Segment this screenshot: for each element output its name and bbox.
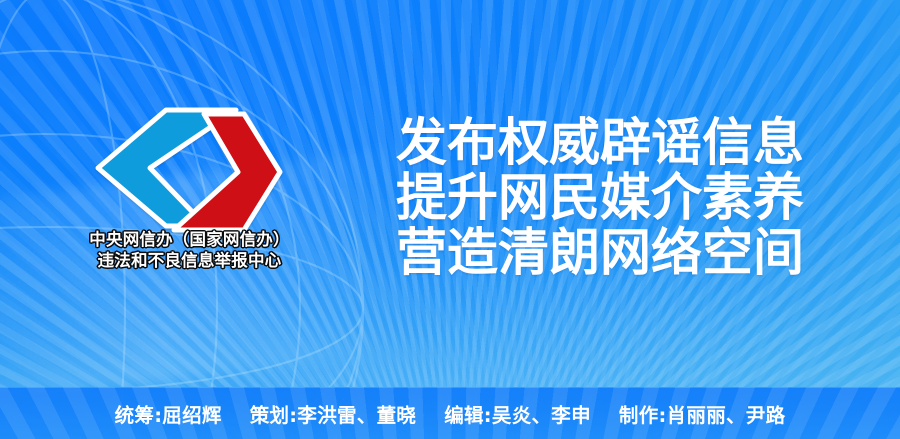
credits-text: 统筹:屈绍辉 策划:李洪雷、董晓 编辑:吴炎、李申 制作:肖丽丽、尹路 [0, 387, 900, 439]
slogan-line-3: 营造清朗网络空间 [396, 226, 826, 281]
slogan-line-2: 提升网民媒介素养 [396, 171, 826, 226]
organization-name-line2: 违法和不良信息举报中心 [82, 251, 297, 271]
promotional-banner: 中央网信办（国家网信办） 违法和不良信息举报中心 发布权威辟谣信息 提升网民媒介… [0, 0, 900, 439]
credit-editor: 编辑:吴炎、李申 [444, 399, 591, 428]
logo-block: 中央网信办（国家网信办） 违法和不良信息举报中心 [88, 106, 288, 286]
organization-name: 中央网信办（国家网信办） 违法和不良信息举报中心 [82, 230, 297, 271]
credit-producer: 统筹:屈绍辉 [115, 399, 222, 428]
credit-planner: 策划:李洪雷、董晓 [250, 399, 417, 428]
slogan-block: 发布权威辟谣信息 提升网民媒介素养 营造清朗网络空间 [396, 116, 826, 281]
slogan-line-1: 发布权威辟谣信息 [396, 116, 826, 171]
chevron-logo-icon [88, 106, 288, 234]
credits-bar: 统筹:屈绍辉 策划:李洪雷、董晓 编辑:吴炎、李申 制作:肖丽丽、尹路 [0, 387, 900, 439]
credit-designer: 制作:肖丽丽、尹路 [619, 399, 786, 428]
organization-name-line1: 中央网信办（国家网信办） [82, 230, 297, 250]
